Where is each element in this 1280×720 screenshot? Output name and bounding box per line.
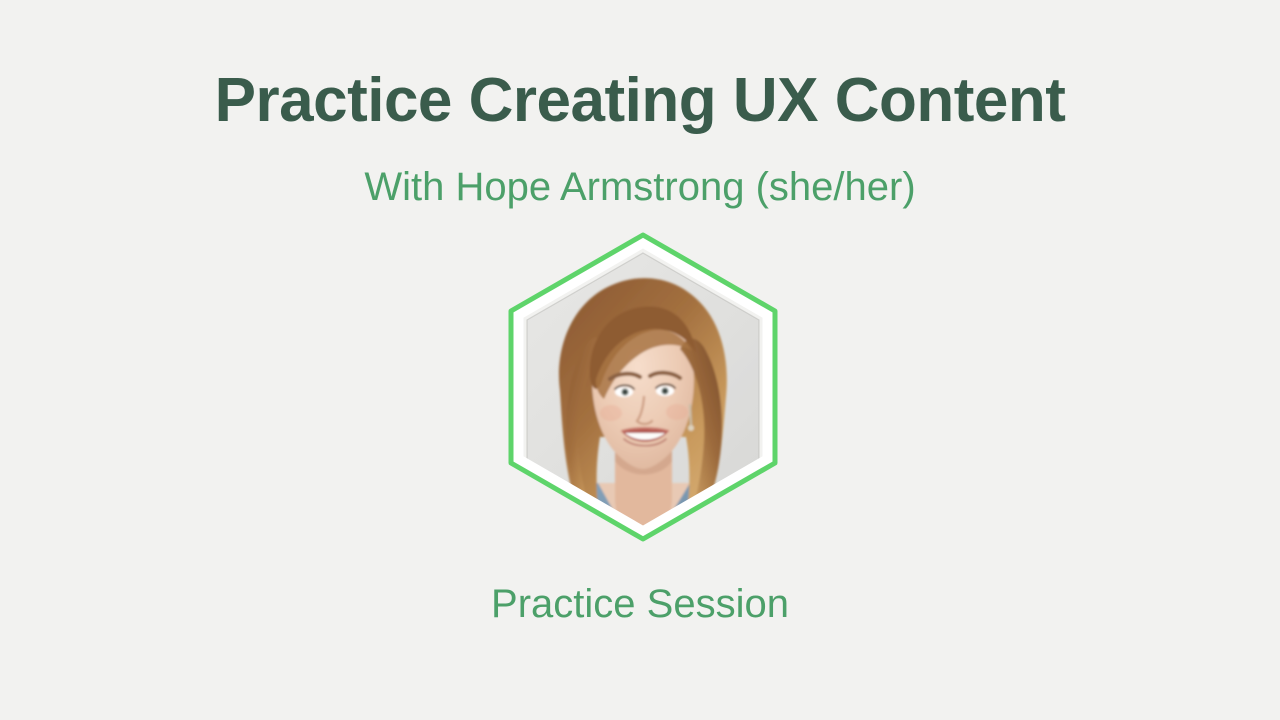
page-title: Practice Creating UX Content bbox=[0, 68, 1280, 135]
presenter-subtitle: With Hope Armstrong (she/her) bbox=[0, 163, 1280, 211]
avatar bbox=[494, 229, 792, 561]
presentation-slide: Practice Creating UX Content With Hope A… bbox=[0, 0, 1280, 720]
presenter-avatar-hexagon-icon bbox=[494, 229, 792, 561]
session-caption: Practice Session bbox=[0, 580, 1280, 628]
